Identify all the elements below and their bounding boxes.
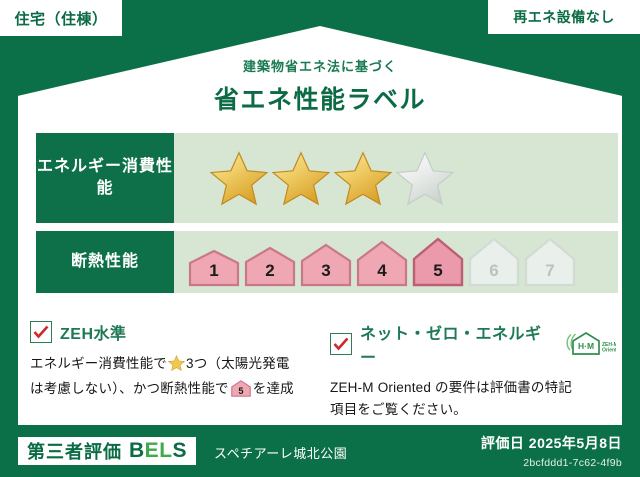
title-main: 省エネ性能ラベル [0,80,640,116]
zeh-text-part1: エネルギー消費性能で [30,356,167,371]
grade-badge: 1 [186,249,242,287]
inline-grade-chip: 5 [231,380,251,404]
grade-badge-label: 5 [410,261,466,281]
star-filled-icon [334,150,392,206]
grade-badge-achieved: 5 [410,237,466,287]
grade-badge-inactive: 7 [522,237,578,287]
criterion-zeh-title: ZEH水準 [60,320,127,344]
bels-badge: 第三者評価 BELS [18,437,196,465]
grade-badge-label: 3 [298,261,354,281]
evaluation-id: 2bcfddd1-7c62-4f9b [523,457,622,469]
checkbox-checked-icon [30,321,52,343]
zeh-text-part3: は考慮しない）、かつ断熱性能で [30,381,229,396]
criterion-zeh-header: ZEH水準 [30,320,316,344]
grade-badge-label: 7 [522,261,578,281]
grade-badge: 3 [298,243,354,287]
grade-badge: 2 [242,246,298,287]
nze-text-line2: 項目をご覧ください。 [330,402,467,417]
inline-star-icon [168,355,185,378]
grade-badge-label: 6 [466,261,522,281]
grade-badge-label: 1 [186,261,242,281]
energy-performance-label: エネルギー消費性能 [36,133,174,223]
footer: 第三者評価 BELS スペチアーレ城北公園 評価日 2025年5月8日 2bcf… [0,425,640,477]
evaluation-date: 評価日 2025年5月8日 [481,433,622,453]
svg-text:H·M: H·M [578,341,594,351]
insulation-performance-body: 1 2 3 [174,231,618,293]
criterion-nze-header: ネット・ゼロ・エネルギー H·M ZEH-M Oriented [330,320,616,368]
criterion-nze-text: ZEH-M Oriented の要件は評価書の特記 項目をご覧ください。 [330,377,616,422]
nze-text-line1: ZEH-M Oriented の要件は評価書の特記 [330,380,572,395]
bels-wordmark: BELS [129,439,187,463]
svg-text:Oriented: Oriented [602,348,616,354]
performance-rows: エネルギー消費性能 [36,133,618,293]
insulation-performance-label: 断熱性能 [36,231,174,293]
energy-performance-row: エネルギー消費性能 [36,133,618,223]
zeh-text-part4: を達成 [253,381,294,396]
energy-label-root: 住宅（住棟） 再エネ設備なし 建築物省エネ法に基づく 省エネ性能ラベル ハウスネ… [0,0,640,477]
grade-badge-inactive: 6 [466,237,522,287]
star-rating [210,150,454,206]
svg-text:5: 5 [238,386,243,396]
zeh-m-oriented-logo: H·M ZEH-M Oriented [564,330,616,358]
renewable-tag: 再エネ設備なし [488,0,640,34]
grade-badge-label: 4 [354,261,410,281]
bels-letter-e: E [145,439,160,462]
grade-badge: 4 [354,240,410,287]
insulation-grade-scale: 1 2 3 [186,237,578,287]
criterion-nze: ネット・ゼロ・エネルギー H·M ZEH-M Oriented ZEH-M Or… [330,320,616,422]
category-tag: 住宅（住棟） [0,0,122,36]
grade-badge-label: 2 [242,261,298,281]
bels-letter-l: L [159,439,172,462]
criterion-zeh-text: エネルギー消費性能で3つ（太陽光発電 は考慮しない）、かつ断熱性能で5を達成 [30,353,316,405]
criterion-zeh: ZEH水準 エネルギー消費性能で3つ（太陽光発電 は考慮しない）、かつ断熱性能で… [30,320,316,422]
bels-letter-b: B [129,439,145,462]
renewable-tag-label: 再エネ設備なし [513,7,615,27]
zeh-text-part2: 3つ（太陽光発電 [186,356,290,371]
label-title-block: 建築物省エネ法に基づく 省エネ性能ラベル [0,56,640,116]
star-filled-icon [210,150,268,206]
checkbox-checked-icon [330,333,352,355]
criteria-section: ZEH水準 エネルギー消費性能で3つ（太陽光発電 は考慮しない）、かつ断熱性能で… [30,320,616,422]
title-subtitle: 建築物省エネ法に基づく [0,56,640,75]
bels-jp-label: 第三者評価 [27,438,122,464]
category-tag-label: 住宅（住棟） [14,8,107,29]
insulation-performance-row: 断熱性能 1 2 [36,231,618,293]
bels-letter-s: S [173,439,188,462]
building-name: スペチアーレ城北公園 [214,443,347,462]
star-filled-icon [272,150,330,206]
star-empty-icon [396,150,454,206]
energy-performance-body [174,133,618,223]
criterion-nze-title: ネット・ゼロ・エネルギー [360,320,552,368]
